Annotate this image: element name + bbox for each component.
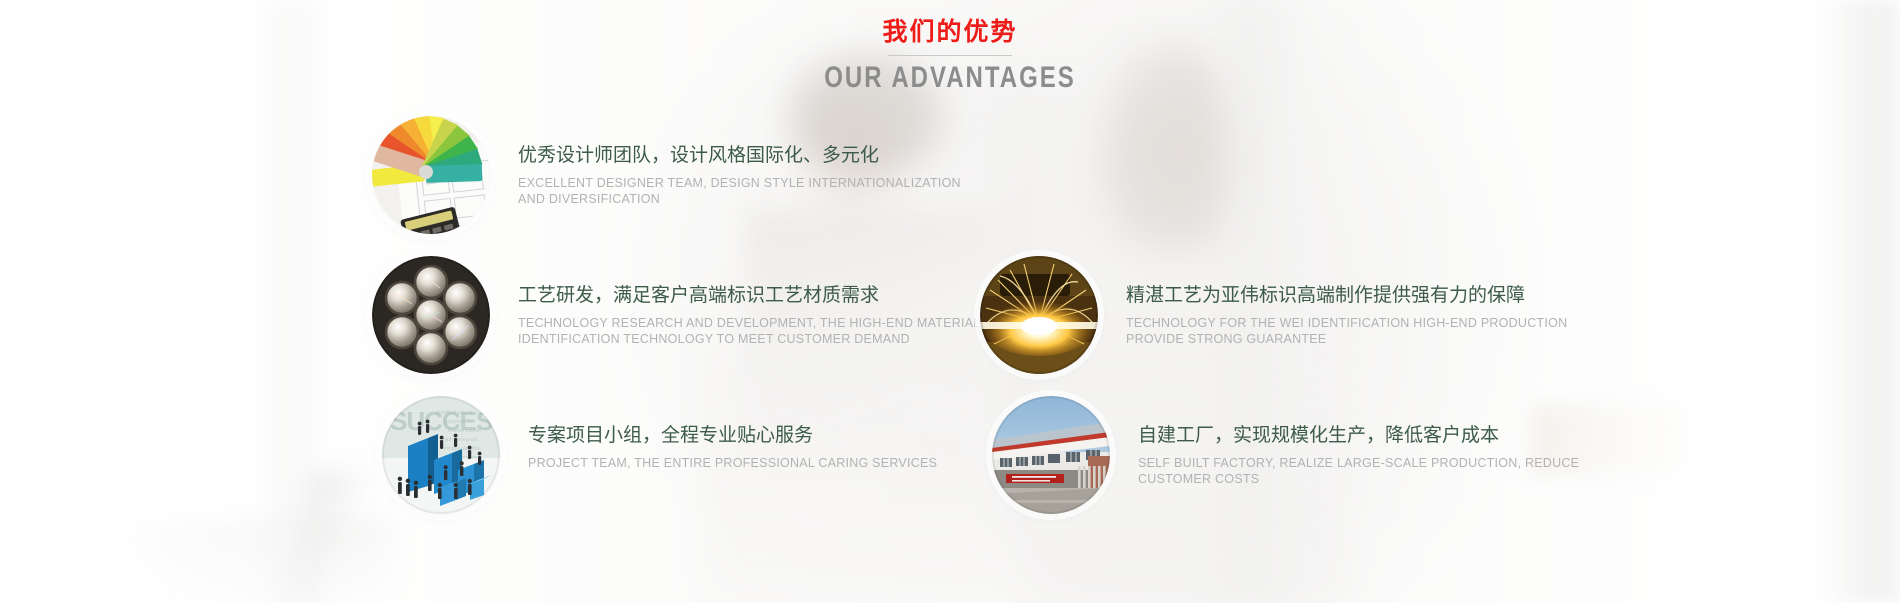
advantage-title-cn: 自建工厂，实现规模化生产，降低客户成本: [1138, 422, 1579, 448]
advantage-text: 工艺研发，满足客户高端标识工艺材质需求 TECHNOLOGY RESEARCH …: [490, 256, 981, 347]
advantage-title-en: TECHNOLOGY RESEARCH AND DEVELOPMENT, THE…: [518, 315, 981, 347]
welding-sparks-icon: [980, 256, 1098, 374]
advantage-title-cn: 优秀设计师团队，设计风格国际化、多元化: [518, 142, 961, 168]
advantage-title-cn: 精湛工艺为亚伟标识高端制作提供强有力的保障: [1126, 282, 1567, 308]
svg-text:graph grow profit: graph grow profit: [440, 437, 478, 443]
advantage-title-en: SELF BUILT FACTORY, REALIZE LARGE-SCALE …: [1138, 455, 1579, 487]
factory-building-icon: [992, 396, 1110, 514]
svg-text:growth business: growth business: [436, 410, 473, 416]
color-swatch-blueprint-icon: [372, 116, 490, 234]
advantage-item[interactable]: SUCCESS growth businesscorporate finance…: [382, 396, 937, 514]
advantage-title-cn: 工艺研发，满足客户高端标识工艺材质需求: [518, 282, 981, 308]
advantage-item[interactable]: 精湛工艺为亚伟标识高端制作提供强有力的保障 TECHNOLOGY FOR THE…: [980, 256, 1567, 374]
advantage-item[interactable]: 自建工厂，实现规模化生产，降低客户成本 SELF BUILT FACTORY, …: [992, 396, 1579, 514]
advantage-text: 自建工厂，实现规模化生产，降低客户成本 SELF BUILT FACTORY, …: [1110, 396, 1579, 487]
advantage-text: 优秀设计师团队，设计风格国际化、多元化 EXCELLENT DESIGNER T…: [490, 116, 961, 207]
svg-text:finance market: finance market: [448, 428, 481, 434]
advantages-section: 我们的优势 OUR ADVANTAGES: [0, 0, 1900, 603]
heading-title-en: OUR ADVANTAGES: [190, 60, 1710, 96]
advantage-item[interactable]: 工艺研发，满足客户高端标识工艺材质需求 TECHNOLOGY RESEARCH …: [372, 256, 981, 374]
heading-title-cn: 我们的优势: [0, 16, 1900, 48]
advantage-title-en: TECHNOLOGY FOR THE WEI IDENTIFICATION HI…: [1126, 315, 1567, 347]
metal-tubes-icon: [372, 256, 490, 374]
advantage-title-cn: 专案项目小组，全程专业贴心服务: [528, 422, 937, 448]
advantages-content: 我们的优势 OUR ADVANTAGES: [0, 0, 1900, 603]
section-heading: 我们的优势 OUR ADVANTAGES: [0, 16, 1900, 96]
advantage-text: 精湛工艺为亚伟标识高端制作提供强有力的保障 TECHNOLOGY FOR THE…: [1098, 256, 1567, 347]
svg-text:corporate: corporate: [444, 419, 465, 425]
heading-divider: [888, 55, 1012, 56]
svg-text:income statistics: income statistics: [444, 446, 481, 452]
advantage-item[interactable]: 优秀设计师团队，设计风格国际化、多元化 EXCELLENT DESIGNER T…: [372, 116, 961, 234]
business-bar-chart-icon: SUCCESS growth businesscorporate finance…: [382, 396, 500, 514]
advantage-title-en: EXCELLENT DESIGNER TEAM, DESIGN STYLE IN…: [518, 175, 961, 207]
advantage-text: 专案项目小组，全程专业贴心服务 PROJECT TEAM, THE ENTIRE…: [500, 396, 937, 471]
advantage-title-en: PROJECT TEAM, THE ENTIRE PROFESSIONAL CA…: [528, 455, 937, 471]
